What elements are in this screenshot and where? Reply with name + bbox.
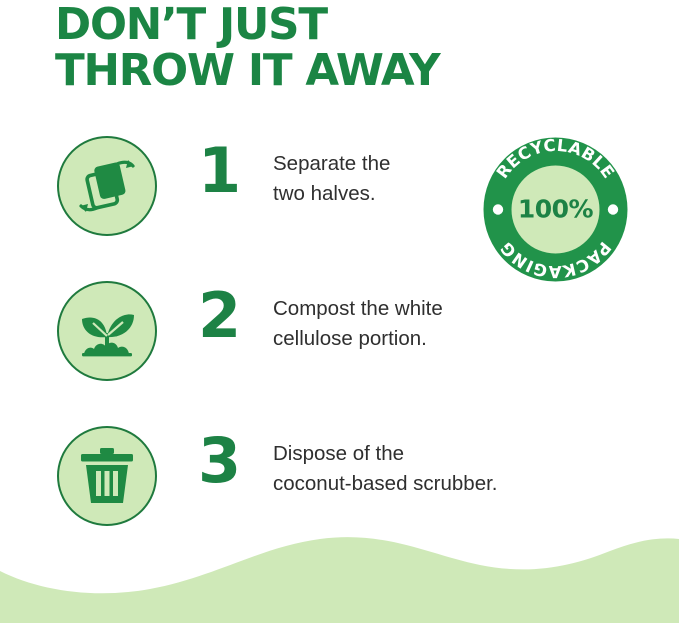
list-item: 3 Dispose of the coconut-based scrubber. [0,426,679,571]
step-description: Compost the white cellulose portion. [273,294,603,354]
step-description: Dispose of the coconut-based scrubber. [273,439,603,499]
page-title: DON’T JUST THROW IT AWAY [55,2,440,94]
step-3-icon-badge [57,426,157,526]
step-number: 1 [198,140,258,202]
step-number: 3 [198,430,258,492]
step-1-icon-badge [57,136,157,236]
step-2-icon-badge [57,281,157,381]
step-number: 2 [198,285,258,347]
recyclable-packaging-badge: RECYCLABLE PACKAGING 100% [482,136,629,283]
list-item: 2 Compost the white cellulose portion. [0,281,679,426]
